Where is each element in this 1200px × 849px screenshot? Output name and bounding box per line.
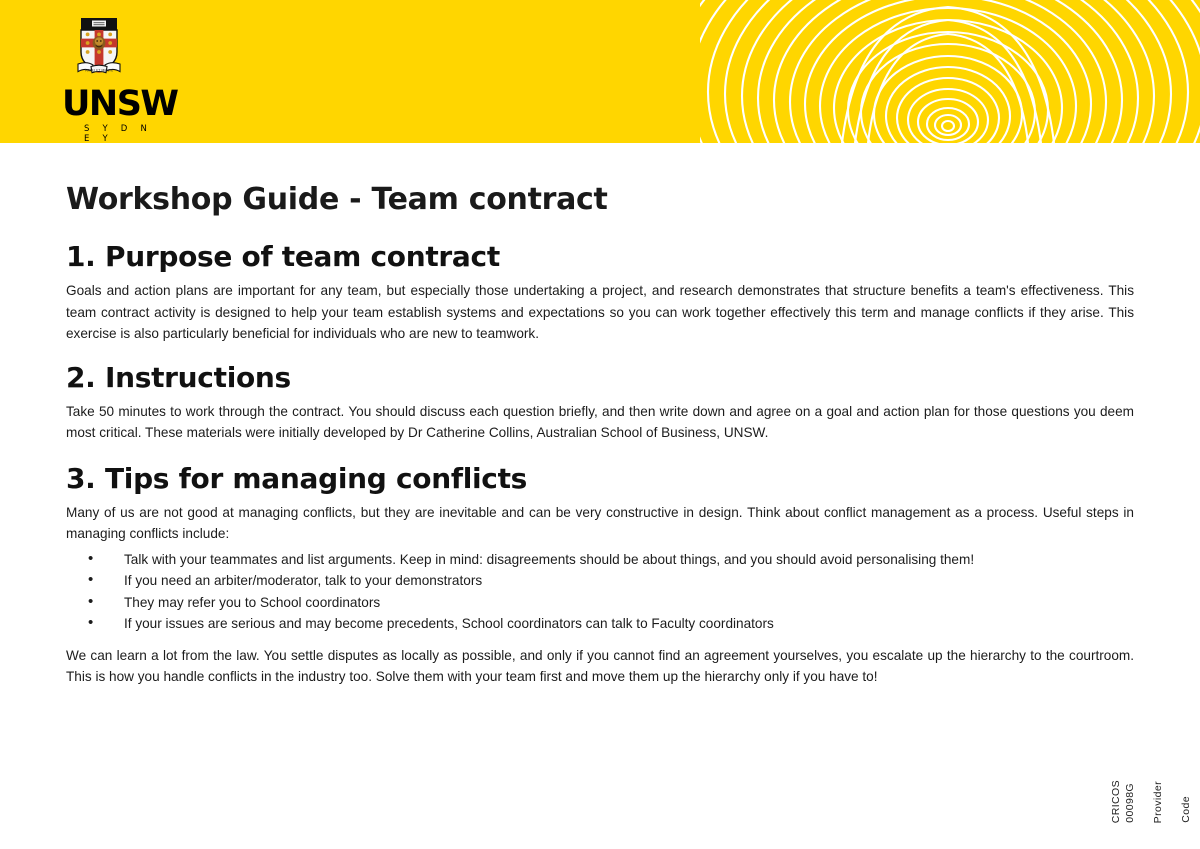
list-item: They may refer you to School coordinator… [66, 592, 1134, 614]
unsw-crest-icon: MANU ET MENTE [76, 16, 122, 80]
unsw-logo: MANU ET MENTE UNSW S Y D N E Y [62, 16, 154, 143]
list-item: If your issues are serious and may becom… [66, 613, 1134, 635]
ripple-decoration [700, 0, 1200, 143]
document-content: Workshop Guide - Team contract 1. Purpos… [66, 182, 1134, 704]
cricos-line-number: 00098G [1124, 783, 1136, 823]
tips-list: Talk with your teammates and list argume… [66, 549, 1134, 635]
list-item: If you need an arbiter/moderator, talk t… [66, 570, 1134, 592]
unsw-wordmark-text: UNSW [62, 86, 154, 122]
unsw-wordmark: UNSW S Y D N E Y [62, 86, 154, 143]
cricos-note: CRICOS 00098G Provider Code [1110, 780, 1192, 823]
svg-text:MANU ET MENTE: MANU ET MENTE [85, 69, 113, 73]
section-1-paragraph: Goals and action plans are important for… [66, 280, 1134, 345]
section-tips: 3. Tips for managing conflicts Many of u… [66, 462, 1134, 688]
page-title: Workshop Guide - Team contract [66, 182, 1134, 218]
section-3-closing-paragraph: We can learn a lot from the law. You set… [66, 645, 1134, 688]
section-heading-1: 1. Purpose of team contract [66, 240, 1134, 274]
section-2-paragraph: Take 50 minutes to work through the cont… [66, 401, 1134, 444]
unsw-sydney-text: S Y D N E Y [84, 124, 154, 143]
section-3-paragraph: Many of us are not good at managing conf… [66, 502, 1134, 545]
cricos-line-provider: Provider [1152, 781, 1164, 823]
page-root: MANU ET MENTE UNSW S Y D N E Y Workshop … [0, 0, 1200, 849]
section-heading-3: 3. Tips for managing conflicts [66, 462, 1134, 496]
section-heading-2: 2. Instructions [66, 361, 1134, 395]
page-header: MANU ET MENTE UNSW S Y D N E Y [0, 0, 1200, 143]
cricos-line-code: CRICOS [1110, 780, 1122, 823]
section-purpose: 1. Purpose of team contract Goals and ac… [66, 240, 1134, 345]
section-instructions: 2. Instructions Take 50 minutes to work … [66, 361, 1134, 444]
list-item: Talk with your teammates and list argume… [66, 549, 1134, 571]
cricos-line-codeword: Code [1180, 796, 1192, 823]
